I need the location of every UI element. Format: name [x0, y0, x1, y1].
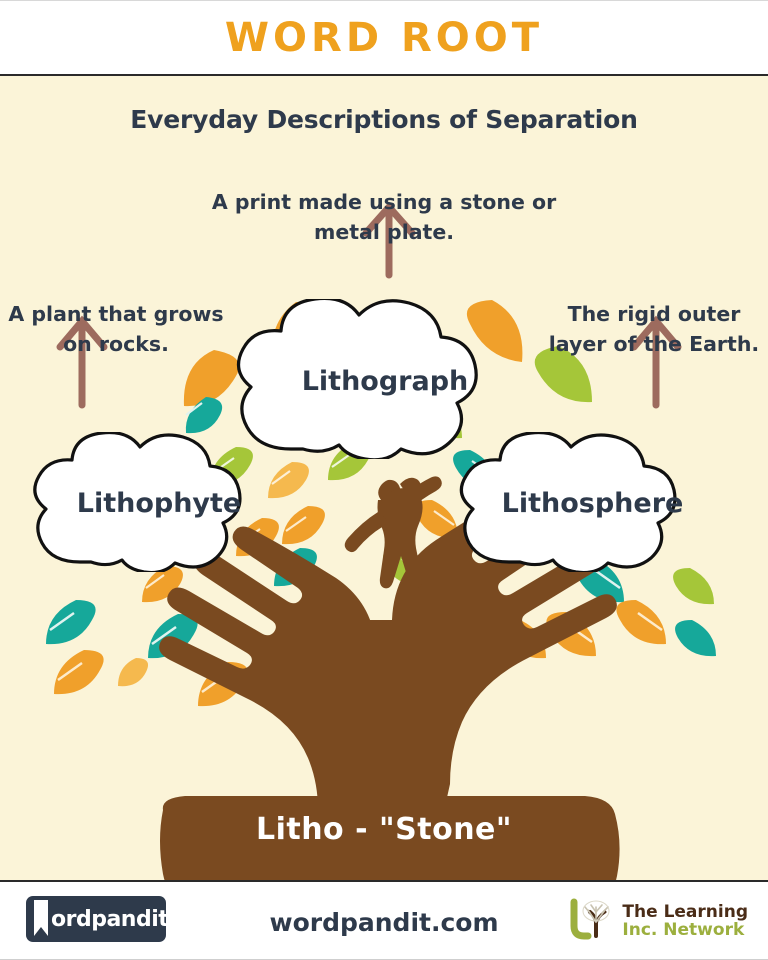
leaf — [54, 650, 104, 694]
header-bar: WORD ROOT — [0, 0, 768, 76]
description-lithophyte: A plant that grows on rocks. — [0, 300, 234, 359]
partner-line-1: The Learning — [622, 903, 748, 921]
description-lithosphere: The rigid outer layer of the Earth. — [538, 300, 768, 359]
word-bubble-label: Lithograph — [302, 366, 469, 397]
leaf — [675, 620, 716, 656]
tree-u-icon — [566, 898, 618, 944]
subtitle: Everyday Descriptions of Separation — [0, 105, 768, 134]
learning-network-text: The Learning Inc. Network — [622, 903, 748, 940]
leaf — [118, 658, 148, 686]
root-word-label: Litho - "Stone" — [0, 812, 768, 847]
wordpandit-logo-text: ordpandit — [51, 907, 168, 932]
word-bubble-label: Lithosphere — [502, 488, 684, 519]
leaf — [46, 600, 96, 644]
infographic-canvas: WORD ROOT Everyday Descriptions of Separ… — [0, 0, 768, 960]
partner-line-2: Inc. Network — [622, 921, 748, 939]
description-lithograph: A print made using a stone or metal plat… — [184, 188, 584, 247]
leaf — [616, 600, 666, 644]
learning-network-logo[interactable]: The Learning Inc. Network — [566, 898, 748, 944]
word-bubble-lithophyte[interactable]: Lithophyte — [28, 432, 290, 572]
wordpandit-logo[interactable]: ordpandit — [26, 896, 166, 942]
word-bubble-label: Lithophyte — [77, 488, 242, 519]
bookmark-w-icon — [30, 896, 50, 942]
word-bubble-lithosphere[interactable]: Lithosphere — [455, 432, 730, 572]
page-title: WORD ROOT — [225, 15, 543, 61]
footer-bar: wordpandit.com ordpandit The Learning — [0, 880, 768, 960]
leaf — [673, 568, 714, 604]
